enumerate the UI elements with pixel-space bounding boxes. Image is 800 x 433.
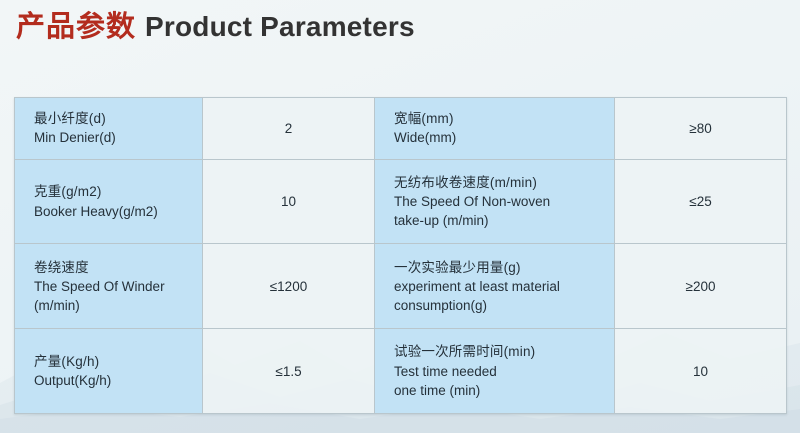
parameter-label-en: The Speed Of Winder [34,277,202,296]
parameter-value-cell: ≥80 [615,98,787,160]
parameter-value-cell: 10 [615,329,787,414]
parameter-label-en: The Speed Of Non-woven [394,192,614,211]
parameter-label-en-2: take-up (m/min) [394,211,614,230]
parameter-label-cell: 卷绕速度 The Speed Of Winder (m/min) [15,244,203,329]
parameter-label-cell: 最小纤度(d) Min Denier(d) [15,98,203,160]
parameter-label-en: Wide(mm) [394,128,614,147]
parameter-label-cn: 试验一次所需时间(min) [394,342,614,361]
parameter-value-cell: ≤1.5 [203,329,375,414]
parameter-value-cell: 2 [203,98,375,160]
parameter-label-en: Booker Heavy(g/m2) [34,202,202,221]
table-row: 最小纤度(d) Min Denier(d) 2 宽幅(mm) Wide(mm) … [15,98,787,160]
parameter-label-en-2: one time (min) [394,381,614,400]
parameter-label-cn: 最小纤度(d) [34,109,202,128]
table-row: 克重(g/m2) Booker Heavy(g/m2) 10 无纺布收卷速度(m… [15,159,787,244]
parameter-value-cell: ≤25 [615,159,787,244]
product-parameters-table: 最小纤度(d) Min Denier(d) 2 宽幅(mm) Wide(mm) … [14,97,786,414]
page-title: 产品参数Product Parameters [16,13,415,42]
parameter-label-cn: 产量(Kg/h) [34,352,202,371]
parameter-label-en: Min Denier(d) [34,128,202,147]
parameter-label-cell: 宽幅(mm) Wide(mm) [375,98,615,160]
page-title-chinese: 产品参数 [16,11,136,43]
parameter-label-cn: 宽幅(mm) [394,109,614,128]
parameter-label-en: experiment at least material [394,277,614,296]
parameter-label-cell: 试验一次所需时间(min) Test time needed one time … [375,329,615,414]
parameter-label-cell: 无纺布收卷速度(m/min) The Speed Of Non-woven ta… [375,159,615,244]
parameter-label-cell: 一次实验最少用量(g) experiment at least material… [375,244,615,329]
parameter-label-en-2: consumption(g) [394,296,614,315]
page-title-english: Product Parameters [145,11,415,42]
parameter-label-cell: 克重(g/m2) Booker Heavy(g/m2) [15,159,203,244]
parameter-label-cell: 产量(Kg/h) Output(Kg/h) [15,329,203,414]
parameter-label-en: Output(Kg/h) [34,371,202,390]
parameter-label-en-2: (m/min) [34,296,202,315]
parameter-label-cn: 克重(g/m2) [34,182,202,201]
table-row: 产量(Kg/h) Output(Kg/h) ≤1.5 试验一次所需时间(min)… [15,329,787,414]
parameter-value-cell: ≥200 [615,244,787,329]
parameter-value-cell: ≤1200 [203,244,375,329]
parameter-value-cell: 10 [203,159,375,244]
parameter-label-cn: 卷绕速度 [34,258,202,277]
table-row: 卷绕速度 The Speed Of Winder (m/min) ≤1200 一… [15,244,787,329]
parameter-label-cn: 无纺布收卷速度(m/min) [394,173,614,192]
parameter-label-cn: 一次实验最少用量(g) [394,258,614,277]
parameter-label-en: Test time needed [394,362,614,381]
